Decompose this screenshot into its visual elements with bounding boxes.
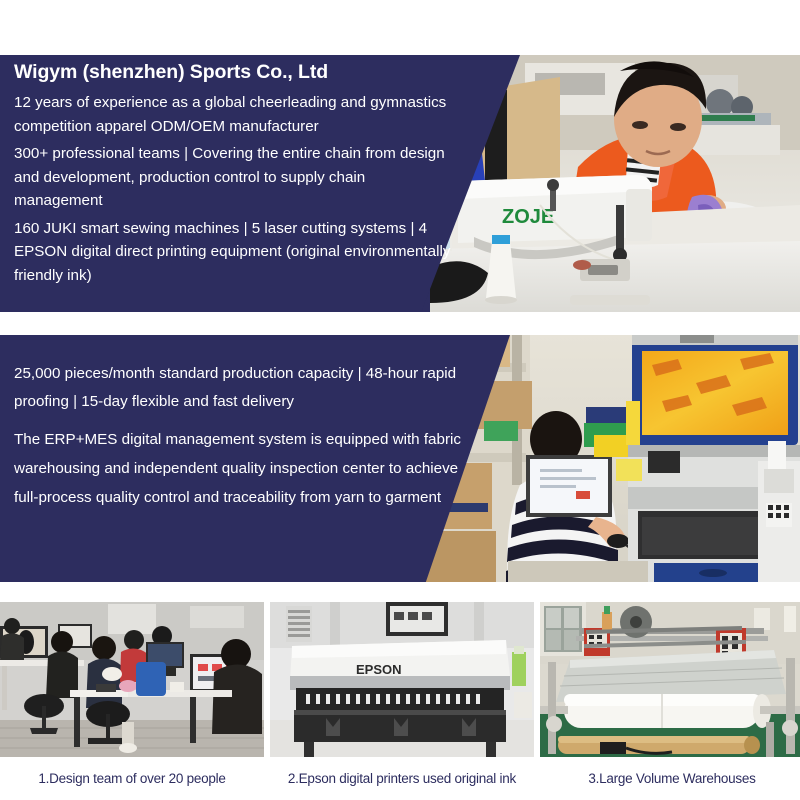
company-name: Wigym (shenzhen) Sports Co., Ltd (14, 61, 454, 84)
facility-thumbnails-row: 1.Design team of over 20 people (0, 602, 800, 800)
warehouse-calender-photo (540, 602, 800, 757)
caption-warehouse: 3.Large Volume Warehouses (540, 757, 800, 800)
facility-cell-warehouse: 3.Large Volume Warehouses (540, 602, 800, 800)
design-team-photo (0, 602, 264, 757)
capacity-banner: W (0, 335, 800, 582)
svg-text:ZOJE: ZOJE (502, 206, 554, 228)
experience-paragraph: 12 years of experience as a global cheer… (14, 91, 454, 138)
facility-cell-epson-printer: EPSON (270, 602, 534, 800)
company-intro-banner: ZOJE (0, 55, 800, 312)
facility-cell-design-team: 1.Design team of over 20 people (0, 602, 264, 800)
caption-epson-printer: 2.Epson digital printers used original i… (270, 757, 534, 800)
erp-mes-paragraph: The ERP+MES digital management system is… (14, 425, 464, 512)
equipment-paragraph: 160 JUKI smart sewing machines | 5 laser… (14, 217, 454, 288)
epson-printer-photo: EPSON (270, 602, 534, 757)
svg-text:EPSON: EPSON (356, 662, 402, 677)
caption-design-team: 1.Design team of over 20 people (0, 757, 264, 800)
marketing-infographic: ZOJE (0, 0, 800, 800)
banner2-text-block: 25,000 pieces/month standard production … (14, 360, 464, 512)
production-capacity-paragraph: 25,000 pieces/month standard production … (14, 360, 464, 416)
teams-paragraph: 300+ professional teams | Covering the e… (14, 142, 454, 213)
banner1-text-block: Wigym (shenzhen) Sports Co., Ltd 12 year… (14, 61, 454, 291)
